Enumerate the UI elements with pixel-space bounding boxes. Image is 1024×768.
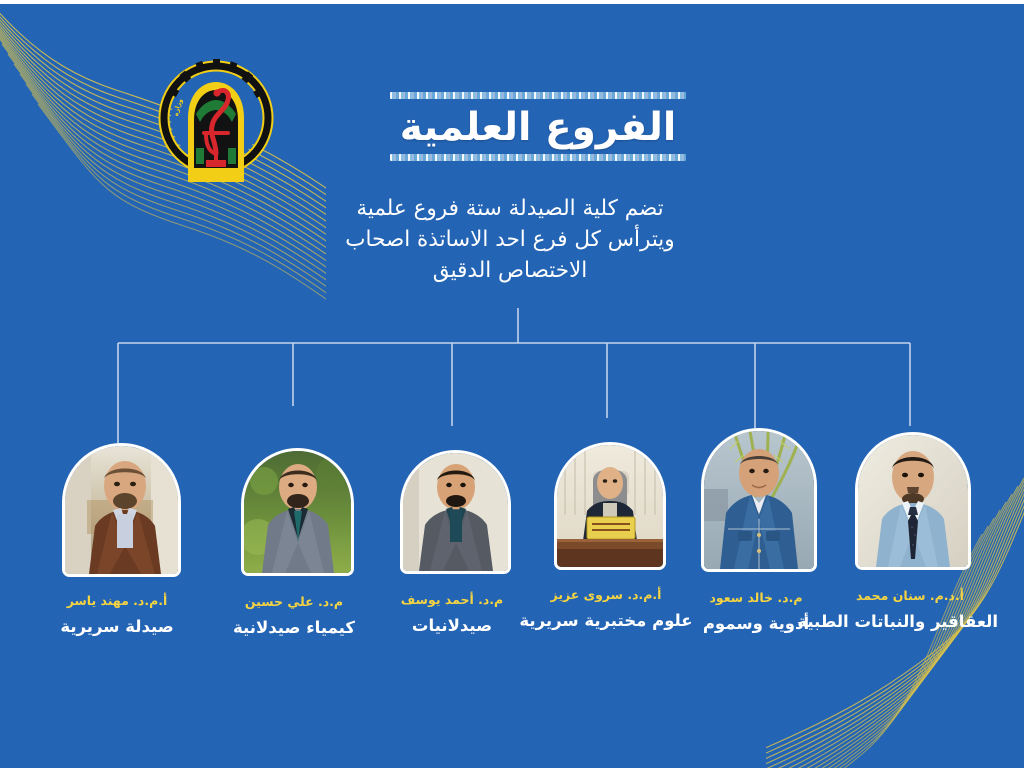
page-title: الفروع العلمية xyxy=(348,108,728,147)
branch-caption-6: أ.د.م. سنان محمد العقاقير والنباتات الطب… xyxy=(822,588,998,632)
branch-caption-2: م.د. علي حسين كيمياء صيدلانية xyxy=(206,594,382,638)
portrait-frame-3 xyxy=(400,450,511,574)
portrait-photo-3 xyxy=(403,453,508,571)
portrait-frame-4 xyxy=(554,442,666,570)
portrait-photo-4 xyxy=(557,445,663,567)
title-rule-top xyxy=(390,92,686,99)
branch-name-1: أ.م.د. مهند ياسر xyxy=(29,593,205,609)
portrait-frame-1 xyxy=(62,443,181,577)
logo-bottom-text: كلية الصيدلة ٢٠٠٦ xyxy=(191,171,241,178)
slide-root: وزارة التعليم العالي كلية الصيدلة ٢٠٠٦ ا… xyxy=(0,0,1024,768)
branch-caption-3: م.د. أحمد يوسف صيدلانيات xyxy=(364,592,540,636)
subtitle-line-3: الاختصاص الدقيق xyxy=(300,255,720,286)
branch-card-pharmacognosy-medicinal-plants[interactable]: أ.د.م. سنان محمد العقاقير والنباتات الطب… xyxy=(855,432,971,570)
branch-name-6: أ.د.م. سنان محمد xyxy=(822,588,998,604)
portrait-photo-2 xyxy=(244,451,351,573)
portrait-frame-6 xyxy=(855,432,971,570)
title-block: الفروع العلمية xyxy=(348,92,728,161)
branch-card-clinical-pharmacy[interactable]: أ.م.د. مهند ياسر صيدلة سريرية xyxy=(62,443,181,577)
subtitle-line-2: ويترأس كل فرع احد الاساتذة اصحاب xyxy=(300,224,720,255)
branch-name-2: م.د. علي حسين xyxy=(206,594,382,610)
branch-card-pharmaceutical-chemistry[interactable]: م.د. علي حسين كيمياء صيدلانية xyxy=(241,448,354,576)
portrait-photo-6 xyxy=(858,435,968,567)
branch-department-6: العقاقير والنباتات الطبية xyxy=(822,611,998,632)
branch-card-clinical-laboratory-sciences[interactable]: أ.م.د. سروى عزيز علوم مختبرية سريرية xyxy=(554,442,666,570)
subtitle-line-1: تضم كلية الصيدلة ستة فروع علمية xyxy=(300,193,720,224)
branch-card-pharmacology-toxicology[interactable]: م.د. خالد سعود أدوية وسموم xyxy=(701,428,817,572)
top-white-strip xyxy=(0,0,1024,4)
portrait-photo-1 xyxy=(65,446,178,574)
branch-caption-1: أ.م.د. مهند ياسر صيدلة سريرية xyxy=(29,593,205,637)
branch-department-1: صيدلة سريرية xyxy=(29,616,205,637)
subtitle: تضم كلية الصيدلة ستة فروع علمية ويترأس ك… xyxy=(300,193,720,287)
portrait-frame-2 xyxy=(241,448,354,576)
branch-name-3: م.د. أحمد يوسف xyxy=(364,592,540,608)
title-rule-bottom xyxy=(390,154,686,161)
portrait-photo-5 xyxy=(704,431,814,569)
branch-department-2: كيمياء صيدلانية xyxy=(206,617,382,638)
portrait-frame-5 xyxy=(701,428,817,572)
branch-department-3: صيدلانيات xyxy=(364,615,540,636)
branch-name-5: م.د. خالد سعود xyxy=(668,590,844,606)
college-logo: وزارة التعليم العالي كلية الصيدلة ٢٠٠٦ xyxy=(152,56,280,196)
branch-card-pharmaceutics[interactable]: م.د. أحمد يوسف صيدلانيات xyxy=(400,450,511,574)
